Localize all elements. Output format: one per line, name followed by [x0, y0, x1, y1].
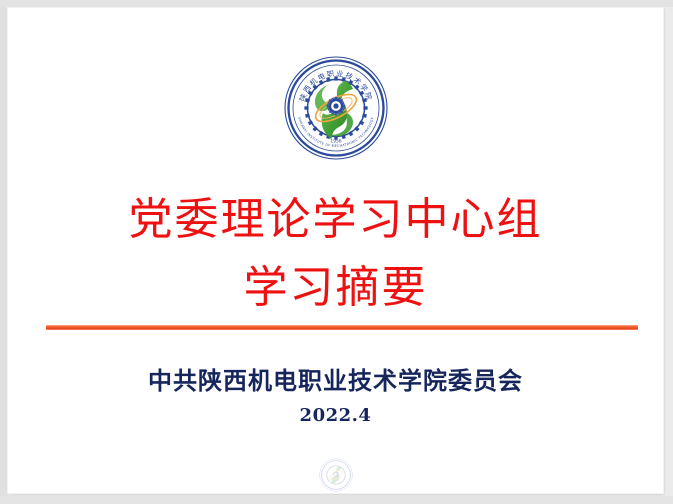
viewer-right-gutter — [665, 7, 673, 497]
university-emblem-logo: 陕西机电职业技术学院 SHAANXI INSTITUTE OF MECHATRO… — [283, 55, 389, 161]
slide-title-block: 党委理论学习中心组 学习摘要 — [8, 186, 663, 322]
university-emblem-watermark — [319, 458, 353, 492]
title-line-1: 党委理论学习中心组 — [8, 186, 663, 254]
logo-container: 陕西机电职业技术学院 SHAANXI INSTITUTE OF MECHATRO… — [8, 55, 663, 161]
watermark-container — [8, 458, 663, 492]
slide-page: 陕西机电职业技术学院 SHAANXI INSTITUTE OF MECHATRO… — [8, 8, 663, 493]
slide-date: 2022.4 — [8, 405, 663, 426]
title-divider-rule — [46, 325, 638, 330]
svg-text:1956: 1956 — [330, 139, 341, 145]
viewer-top-strip — [0, 0, 673, 7]
document-viewer: 陕西机电职业技术学院 SHAANXI INSTITUTE OF MECHATRO… — [0, 0, 673, 504]
viewer-left-gutter — [0, 7, 8, 497]
viewer-bottom-strip — [0, 496, 673, 504]
organization-name: 中共陕西机电职业技术学院委员会 — [8, 361, 663, 396]
title-line-2: 学习摘要 — [8, 254, 663, 322]
